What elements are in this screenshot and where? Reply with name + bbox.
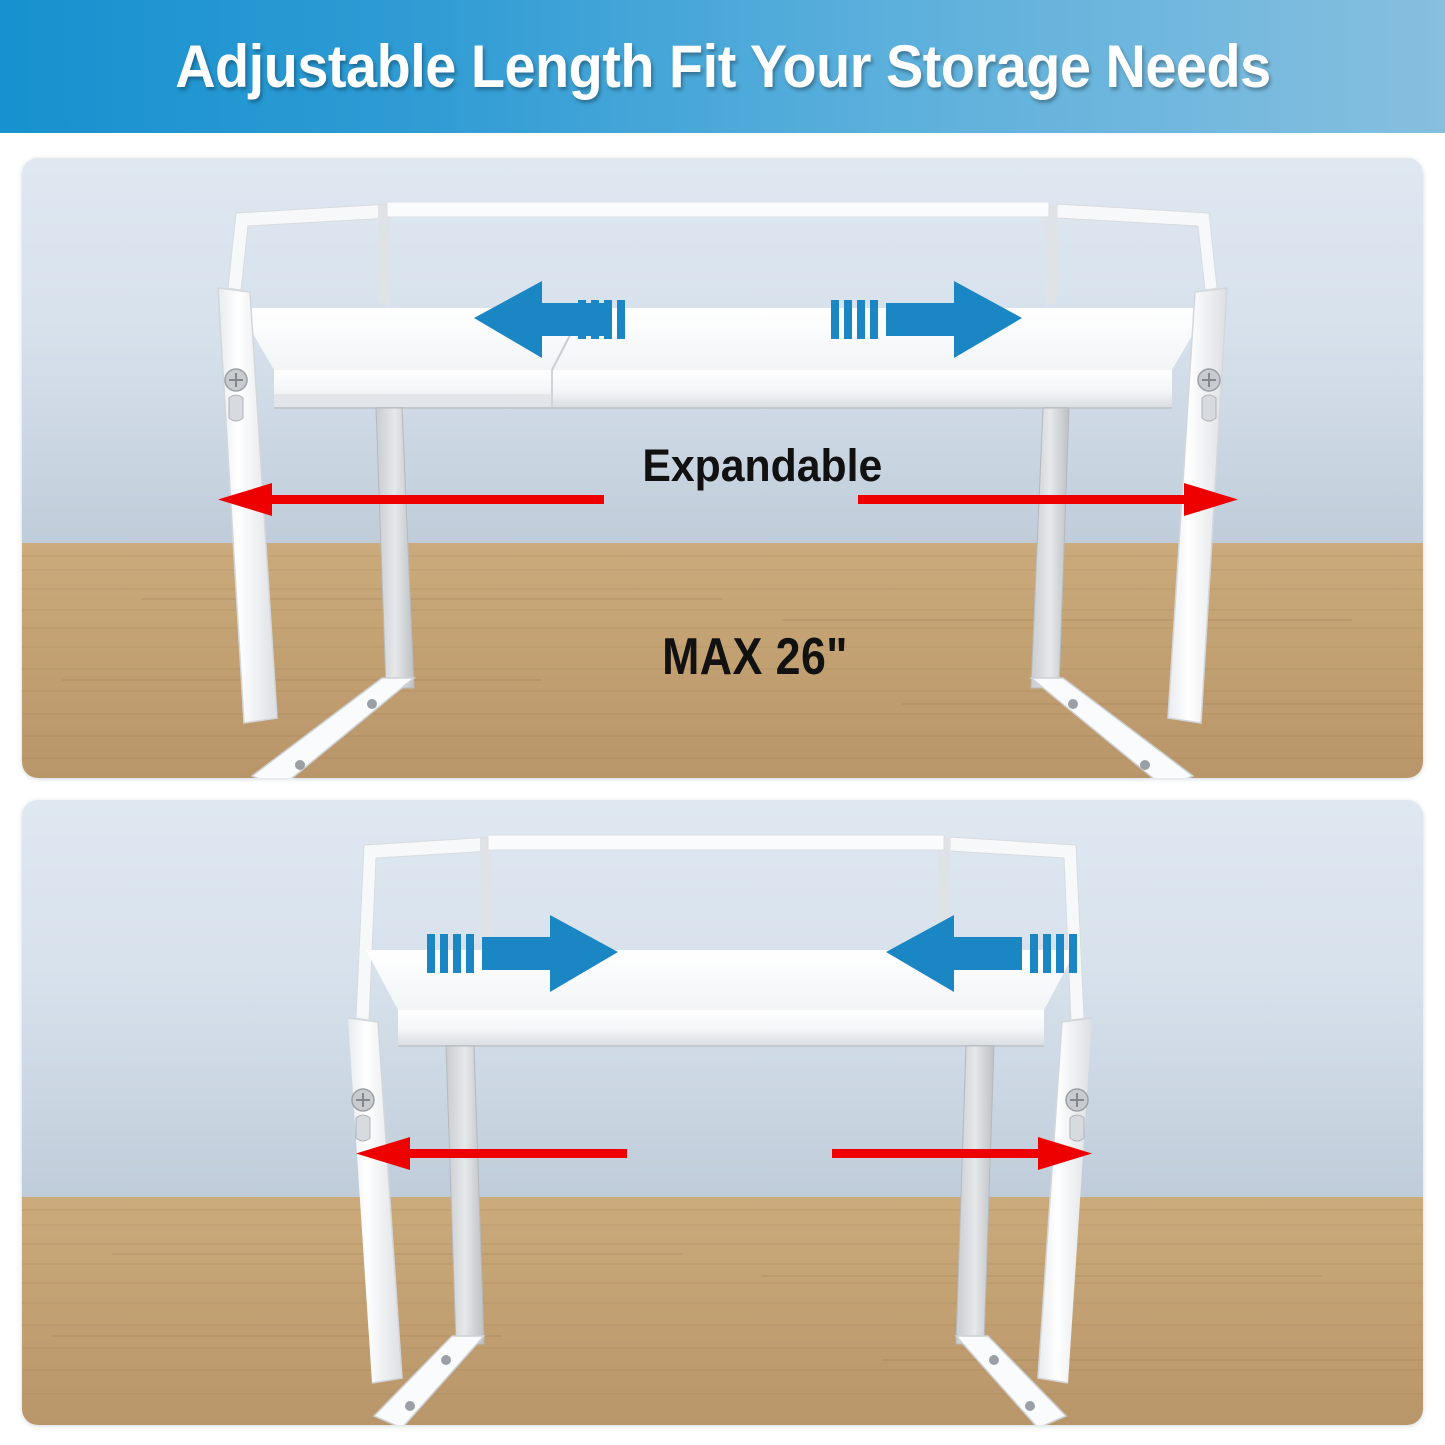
product-photo-collapsed: Collapsible MIN 14" [22, 800, 1423, 1425]
wood-countertop [22, 1197, 1423, 1425]
infographic-page: Adjustable Length Fit Your Storage Needs [0, 0, 1445, 1445]
back-rail-left-end [378, 204, 390, 308]
dimension-label-max: MAX 26" [662, 627, 848, 687]
right-brace-rivet-bottom [1140, 760, 1150, 770]
left-brace-rivet-top [441, 1355, 451, 1365]
feature-label-expandable: Expandable [642, 440, 882, 492]
back-rail-span [387, 202, 1049, 217]
right-post-latch [1202, 395, 1216, 421]
page-title: Adjustable Length Fit Your Storage Needs [175, 32, 1270, 101]
back-rail-right-end [1045, 204, 1057, 308]
shelf-top-surface [238, 308, 1208, 370]
shelf-front-edge-step [274, 394, 552, 408]
right-post-latch [1070, 1115, 1084, 1141]
right-brace-rivet-bottom [1025, 1401, 1035, 1411]
shelf-front-edge [398, 1010, 1044, 1046]
back-rail-left-end [480, 837, 492, 950]
left-post-latch [356, 1115, 370, 1141]
left-brace-rivet-bottom [295, 760, 305, 770]
left-post-latch [229, 395, 243, 421]
right-brace-rivet-top [1068, 699, 1078, 709]
header-banner: Adjustable Length Fit Your Storage Needs [0, 0, 1445, 133]
back-rail-span [488, 835, 944, 850]
scene-collapsed [22, 800, 1423, 1425]
right-brace-rivet-top [989, 1355, 999, 1365]
left-brace-rivet-bottom [405, 1401, 415, 1411]
left-brace-rivet-top [367, 699, 377, 709]
product-photo-expanded: Expandable MAX 26" [22, 158, 1423, 778]
